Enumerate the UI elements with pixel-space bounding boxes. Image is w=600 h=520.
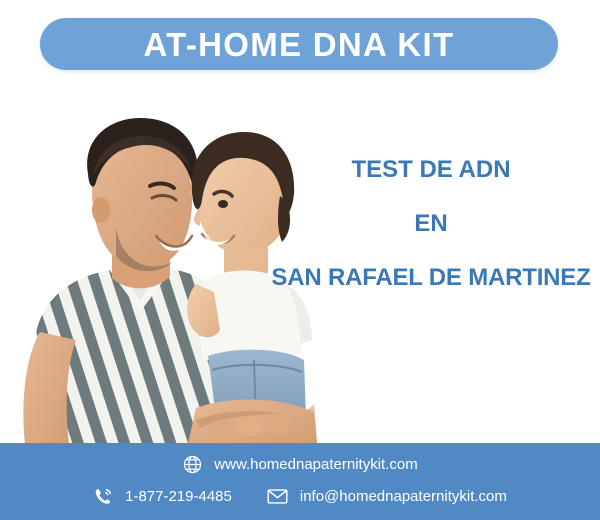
- headline-line-2: EN: [262, 212, 600, 236]
- footer-row-phone-email: 1-877-219-4485 info@homednapaternitykit.…: [0, 485, 600, 508]
- headline-block: TEST DE ADN EN SAN RAFAEL DE MARTINEZ: [262, 158, 600, 290]
- headline-line-3: SAN RAFAEL DE MARTINEZ: [262, 266, 600, 290]
- website-contact-item[interactable]: www.homednapaternitykit.com: [182, 454, 417, 475]
- phone-icon: [93, 486, 114, 507]
- email-contact-item[interactable]: info@homednapaternitykit.com: [266, 485, 507, 508]
- footer-row-website: www.homednapaternitykit.com: [0, 454, 600, 475]
- website-text: www.homednapaternitykit.com: [214, 457, 417, 472]
- envelope-icon: [266, 485, 289, 508]
- email-text: info@homednapaternitykit.com: [300, 489, 507, 504]
- contact-footer: www.homednapaternitykit.com 1-877-219-44…: [0, 443, 600, 520]
- headline-line-1: TEST DE ADN: [262, 158, 600, 182]
- phone-text: 1-877-219-4485: [125, 489, 232, 504]
- phone-contact-item[interactable]: 1-877-219-4485: [93, 486, 232, 507]
- globe-icon: [182, 454, 203, 475]
- header-title: AT-HOME DNA KIT: [144, 28, 455, 61]
- dna-kit-promo-banner: AT-HOME DNA KIT: [0, 0, 600, 520]
- header-pill: AT-HOME DNA KIT: [40, 18, 558, 70]
